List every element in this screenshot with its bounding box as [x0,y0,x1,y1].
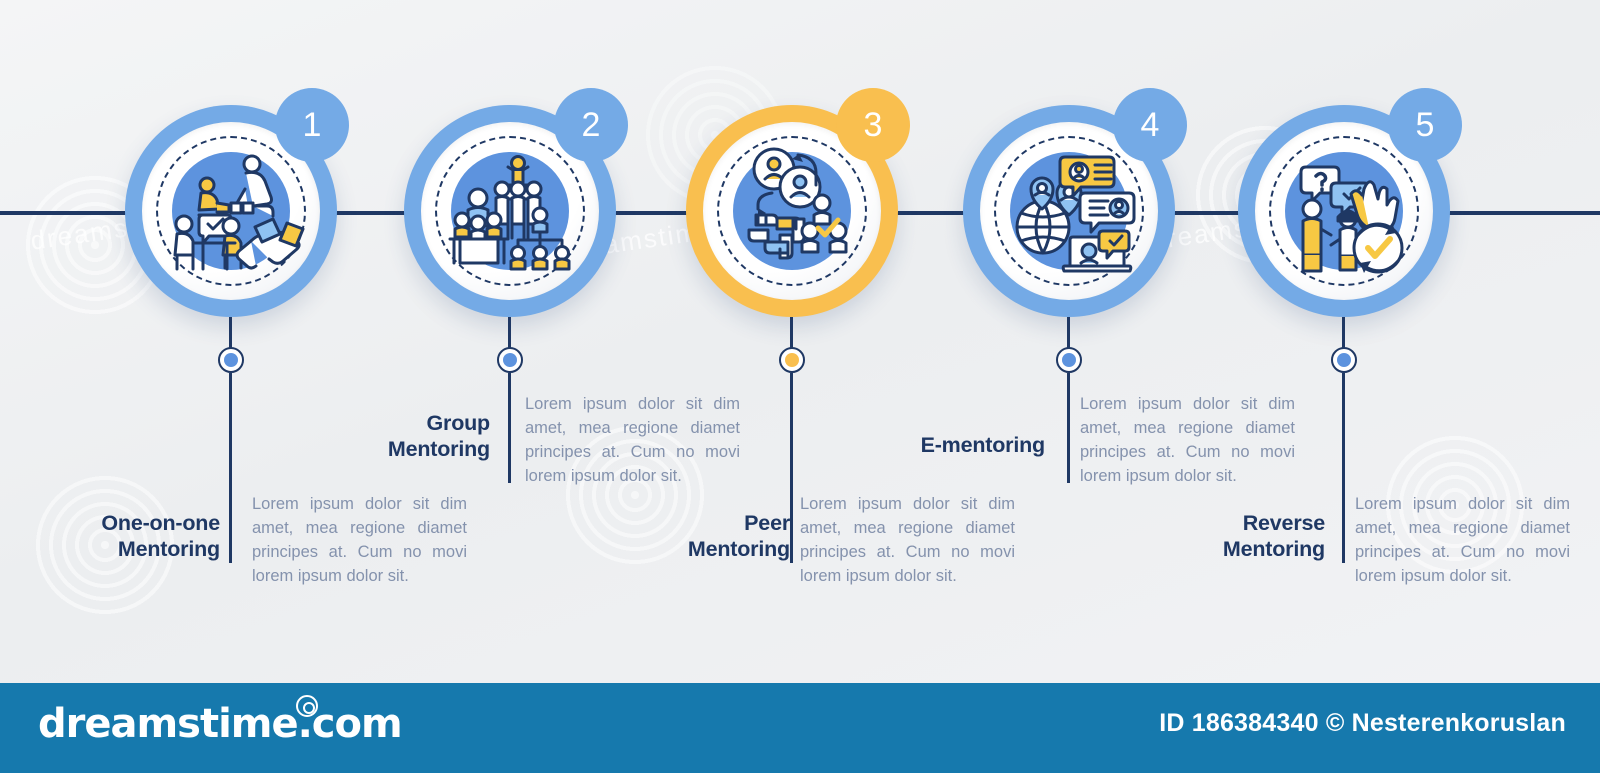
step-label-line2: Mentoring [688,537,790,561]
step-body-5: Lorem ipsum dolor sit dim amet, mea regi… [1355,492,1570,588]
step-label-line1: Group [427,411,491,435]
step-label-line2: Mentoring [388,437,490,461]
step-label-line1: Reverse [1243,511,1325,535]
step-label-3: Peer Mentoring [600,510,790,562]
globe-chat-laptop-icon [989,131,1149,291]
step-number-badge-4: 4 [1113,88,1187,162]
step-dot-3[interactable] [779,347,805,373]
group-hierarchy-icon [430,131,590,291]
step-number-badge-2: 2 [554,88,628,162]
step-label-5: Reverse Mentoring [1150,510,1325,562]
step-dot-4[interactable] [1056,347,1082,373]
footer-bar: dreamstime.com ID 186384340 © Nesterenko… [0,683,1600,773]
spiral-mark-icon [296,695,318,717]
step-stem-tail-2 [508,373,511,483]
step-body-4: Lorem ipsum dolor sit dim amet, mea regi… [1080,392,1295,488]
step-label-4: E-mentoring [860,432,1045,458]
infographic-canvas: dreamstime dreamstime dreamstime 1 [0,0,1600,773]
step-label-line2: Mentoring [1223,537,1325,561]
reverse-roles-icon [1264,131,1424,291]
step-label-1: One-on-one Mentoring [0,510,220,562]
step-stem-tail-5 [1342,373,1345,563]
step-body-2: Lorem ipsum dolor sit dim amet, mea regi… [525,392,740,488]
step-dot-1[interactable] [218,347,244,373]
step-label-line1: Peer [744,511,790,535]
image-credit: ID 186384340 © Nesterenkoruslan [1159,709,1566,738]
step-label-line1: One-on-one [101,511,220,535]
step-label-line2: Mentoring [118,537,220,561]
step-stem-tail-4 [1067,373,1070,483]
step-label-line1: E-mentoring [921,433,1045,457]
step-body-1: Lorem ipsum dolor sit dim amet, mea regi… [252,492,467,588]
dreamstime-logo: dreamstime.com [38,701,402,747]
step-stem-tail-1 [229,373,232,563]
mentor-handshake-icon [151,131,311,291]
step-stem-tail-3 [790,373,793,563]
step-number-badge-3: 3 [836,88,910,162]
step-label-2: Group Mentoring [300,410,490,462]
step-dot-5[interactable] [1331,347,1357,373]
step-number-badge-5: 5 [1388,88,1462,162]
peer-hands-icon [712,131,872,291]
step-body-3: Lorem ipsum dolor sit dim amet, mea regi… [800,492,1015,588]
step-number-badge-1: 1 [275,88,349,162]
step-dot-2[interactable] [497,347,523,373]
